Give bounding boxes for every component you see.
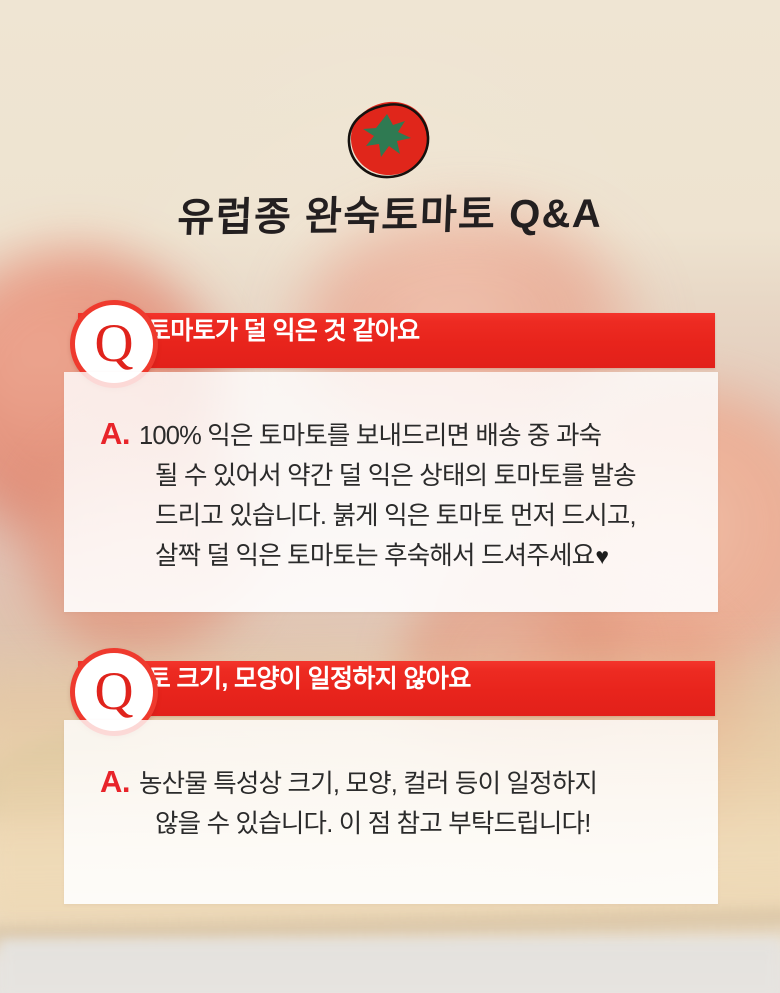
background-table-surface (0, 940, 780, 993)
heart-icon: ♥ (595, 536, 608, 576)
answer-mark: A. (100, 762, 130, 802)
question-badge-letter: Q (95, 316, 134, 370)
answer-panel-2: A. 농산물 특성상 크기, 모양, 컬러 등이 일정하지 않을 수 있습니다.… (64, 720, 718, 904)
answer-line-text: 살짝 덜 익은 토마토는 후숙해서 드셔주세요 (155, 536, 594, 576)
question-badge-letter: Q (95, 664, 134, 718)
answer-line: 될 수 있어서 약간 덜 익은 상태의 토마토를 발송 (100, 456, 698, 496)
answer-line: 않을 수 있습니다. 이 점 참고 부탁드립니다! (100, 804, 698, 844)
page-title: 유럽종 완숙토마토 Q&A (0, 192, 780, 240)
answer-line: A. 농산물 특성상 크기, 모양, 컬러 등이 일정하지 (100, 762, 698, 804)
answer-body-1: A. 100% 익은 토마토를 보내드리면 배송 중 과숙 될 수 있어서 약간… (100, 414, 698, 576)
answer-line: A. 100% 익은 토마토를 보내드리면 배송 중 과숙 (100, 414, 698, 456)
question-text-2: 토마토 크기, 모양이 일정하지 않아요 (103, 659, 471, 695)
answer-line-text: 100% 익은 토마토를 보내드리면 배송 중 과숙 (139, 416, 601, 456)
answer-panel-1: A. 100% 익은 토마토를 보내드리면 배송 중 과숙 될 수 있어서 약간… (64, 372, 718, 612)
answer-line-text: 않을 수 있습니다. 이 점 참고 부탁드립니다! (155, 804, 591, 844)
answer-body-2: A. 농산물 특성상 크기, 모양, 컬러 등이 일정하지 않을 수 있습니다.… (100, 762, 698, 844)
answer-line: 드리고 있습니다. 붉게 익은 토마토 먼저 드시고, (100, 496, 698, 536)
answer-line-text: 농산물 특성상 크기, 모양, 컬러 등이 일정하지 (139, 764, 597, 804)
page-header: 유럽종 완숙토마토 Q&A (0, 0, 780, 285)
tomato-icon (343, 96, 437, 182)
answer-line-text: 드리고 있습니다. 붉게 익은 토마토 먼저 드시고, (155, 496, 636, 536)
answer-line-text: 될 수 있어서 약간 덜 익은 상태의 토마토를 발송 (155, 456, 636, 496)
answer-mark: A. (100, 414, 130, 454)
product-detail-page: 유럽종 완숙토마토 Q&A 완숙토마토가 덜 익은 것 같아요 Q A. 100… (0, 0, 780, 993)
answer-line: 살짝 덜 익은 토마토는 후숙해서 드셔주세요 ♥ (100, 536, 698, 576)
